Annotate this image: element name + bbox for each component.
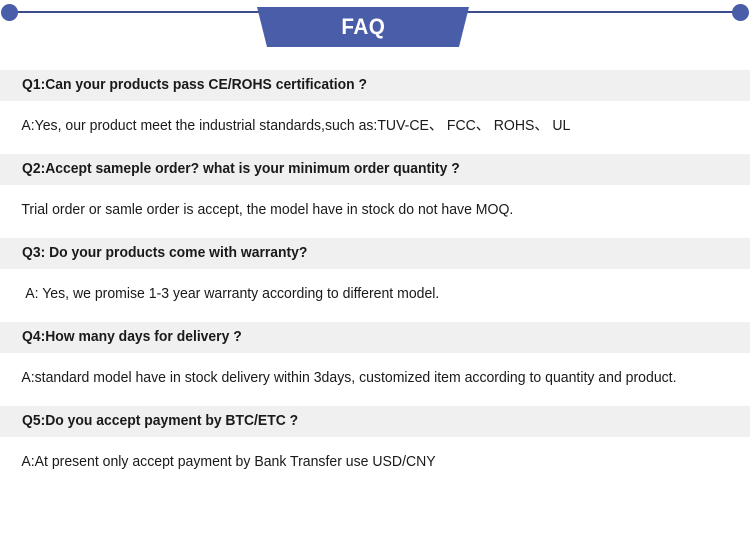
page-title: FAQ: [341, 16, 385, 38]
faq-question-text: Q4:How many days for delivery ?: [22, 330, 242, 345]
circle-endpoint-icon-left: [1, 4, 18, 21]
faq-item: Q4:How many days for delivery ? A:standa…: [0, 322, 750, 392]
faq-item: Q1:Can your products pass CE/ROHS certif…: [0, 70, 750, 140]
circle-endpoint-icon-right: [732, 4, 749, 21]
faq-banner-tab: FAQ: [256, 7, 470, 47]
faq-question-text: Q2:Accept sameple order? what is your mi…: [22, 162, 460, 177]
faq-answer-text: A:standard model have in stock delivery …: [0, 365, 728, 392]
faq-question-bar[interactable]: Q4:How many days for delivery ?: [0, 322, 750, 353]
faq-question-bar[interactable]: Q1:Can your products pass CE/ROHS certif…: [0, 70, 750, 101]
faq-header: FAQ: [0, 0, 750, 56]
faq-question-bar[interactable]: Q5:Do you accept payment by BTC/ETC ?: [0, 406, 750, 437]
faq-question-bar[interactable]: Q2:Accept sameple order? what is your mi…: [0, 154, 750, 185]
faq-item: Q5:Do you accept payment by BTC/ETC ? A:…: [0, 406, 750, 476]
faq-question-bar[interactable]: Q3: Do your products come with warranty?: [0, 238, 750, 269]
faq-answer-text: A:At present only accept payment by Bank…: [0, 449, 728, 476]
faq-answer-text: A:Yes, our product meet the industrial s…: [0, 113, 728, 140]
faq-question-text: Q5:Do you accept payment by BTC/ETC ?: [22, 414, 298, 429]
faq-item: Q3: Do your products come with warranty?…: [0, 238, 750, 308]
faq-question-text: Q3: Do your products come with warranty?: [22, 246, 307, 261]
faq-answer-text: Trial order or samle order is accept, th…: [0, 197, 728, 224]
faq-item: Q2:Accept sameple order? what is your mi…: [0, 154, 750, 224]
faq-answer-text: A: Yes, we promise 1-3 year warranty acc…: [0, 281, 728, 308]
faq-question-text: Q1:Can your products pass CE/ROHS certif…: [22, 78, 367, 93]
faq-list: Q1:Can your products pass CE/ROHS certif…: [0, 56, 750, 476]
